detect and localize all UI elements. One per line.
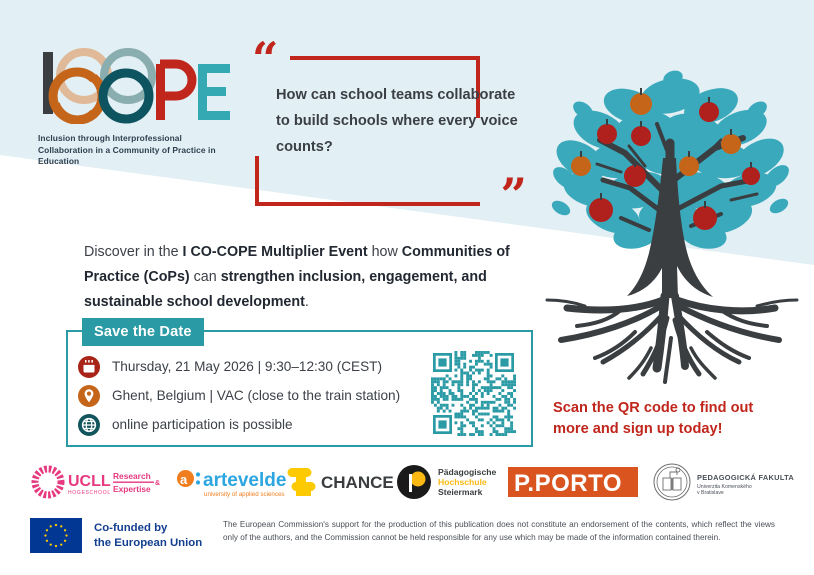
svg-text:Research: Research: [113, 471, 151, 481]
eu-line2: the European Union: [94, 536, 202, 551]
partner-logo-ph-steiermark: Pädagogische Hochschule Steiermark: [397, 465, 496, 499]
svg-text:Steiermark: Steiermark: [438, 487, 483, 497]
quote-rule-bottom-left: [255, 156, 259, 206]
eu-line1: Co-funded by: [94, 521, 202, 536]
svg-text:artevelde: artevelde: [203, 470, 286, 491]
quote-block: “ How can school teams collaborate to bu…: [252, 40, 529, 192]
svg-text:Pädagogische: Pädagogische: [438, 467, 496, 477]
calendar-icon: [78, 356, 100, 378]
intro-bold1: I CO-COPE Multiplier Event: [183, 244, 368, 260]
quote-close-icon: ”: [501, 168, 527, 222]
svg-text:a: a: [180, 472, 188, 487]
svg-text:P.PORTO: P.PORTO: [514, 470, 622, 497]
partner-logo-p-porto: P.PORTO: [508, 467, 638, 497]
intro-paragraph: Discover in the I CO-COPE Multiplier Eve…: [84, 240, 534, 315]
svg-text:v Bratislave: v Bratislave: [697, 490, 724, 496]
icope-logo: Inclusion through Interprofessional Coll…: [38, 46, 253, 168]
svg-text:HOGESCHOOL: HOGESCHOOL: [68, 490, 111, 496]
intro-part3: can: [190, 269, 221, 285]
eu-flag-icon: [30, 518, 82, 553]
partner-logo-artevelde: a artevelde university of applied scienc…: [177, 470, 286, 498]
globe-icon: [78, 414, 100, 436]
location-pin-icon: [78, 385, 100, 407]
tree-illustration: [525, 48, 814, 388]
scan-qr-cta: Scan the QR code to find out more and si…: [553, 398, 798, 440]
intro-part1: Discover in the: [84, 244, 183, 260]
disclaimer-text: The European Commission's support for th…: [223, 519, 775, 544]
quote-rule-top: [290, 56, 480, 60]
icope-subtitle: Inclusion through Interprofessional Coll…: [38, 133, 233, 168]
icope-logo-graphic: [38, 46, 238, 124]
quote-open-icon: “: [252, 32, 278, 86]
svg-text:&: &: [155, 480, 160, 487]
scan-cta-line1: Scan the QR code to find out: [553, 398, 798, 419]
detail-date-text: Thursday, 21 May 2026 | 9:30–12:30 (CEST…: [112, 359, 382, 374]
partner-logo-ucll: UCLL HOGESCHOOL Research Expertise &: [35, 469, 160, 496]
detail-row-online: online participation is possible: [78, 410, 400, 439]
partner-logo-pedagogicka-fakulta: PEDAGOGICKÁ FAKULTA Univerzita Komenskéh…: [654, 464, 794, 500]
svg-text:UCLL: UCLL: [68, 473, 111, 490]
intro-part4: .: [305, 294, 309, 310]
quote-text: How can school teams collaborate to buil…: [276, 82, 526, 160]
svg-text:Hochschule: Hochschule: [438, 477, 487, 487]
quote-rule-bottom: [255, 202, 480, 206]
svg-text:Expertise: Expertise: [113, 484, 151, 494]
partner-logo-chance-b: CHANCE B: [288, 468, 411, 496]
detail-location-text: Ghent, Belgium | VAC (close to the train…: [112, 388, 400, 403]
partner-logo-strip: UCLL HOGESCHOOL Research Expertise & a a…: [0, 458, 814, 506]
icope-wordmark: [38, 46, 238, 124]
qr-code[interactable]: [431, 351, 516, 436]
detail-row-date: Thursday, 21 May 2026 | 9:30–12:30 (CEST…: [78, 352, 400, 381]
eu-cofunding-text: Co-funded by the European Union: [94, 521, 202, 550]
svg-text:PEDAGOGICKÁ FAKULTA: PEDAGOGICKÁ FAKULTA: [697, 473, 794, 482]
save-the-date-tab: Save the Date: [82, 318, 204, 346]
save-the-date-rows: Thursday, 21 May 2026 | 9:30–12:30 (CEST…: [78, 352, 400, 439]
event-flyer: Inclusion through Interprofessional Coll…: [0, 0, 814, 575]
scan-cta-line2: more and sign up today!: [553, 419, 798, 440]
tree-roots: [547, 296, 797, 382]
eu-cofunding-block: Co-funded by the European Union: [30, 518, 202, 553]
detail-row-location: Ghent, Belgium | VAC (close to the train…: [78, 381, 400, 410]
detail-online-text: online participation is possible: [112, 417, 293, 432]
intro-part2: how: [368, 244, 402, 260]
svg-text:university of applied sciences: university of applied sciences: [204, 491, 284, 498]
